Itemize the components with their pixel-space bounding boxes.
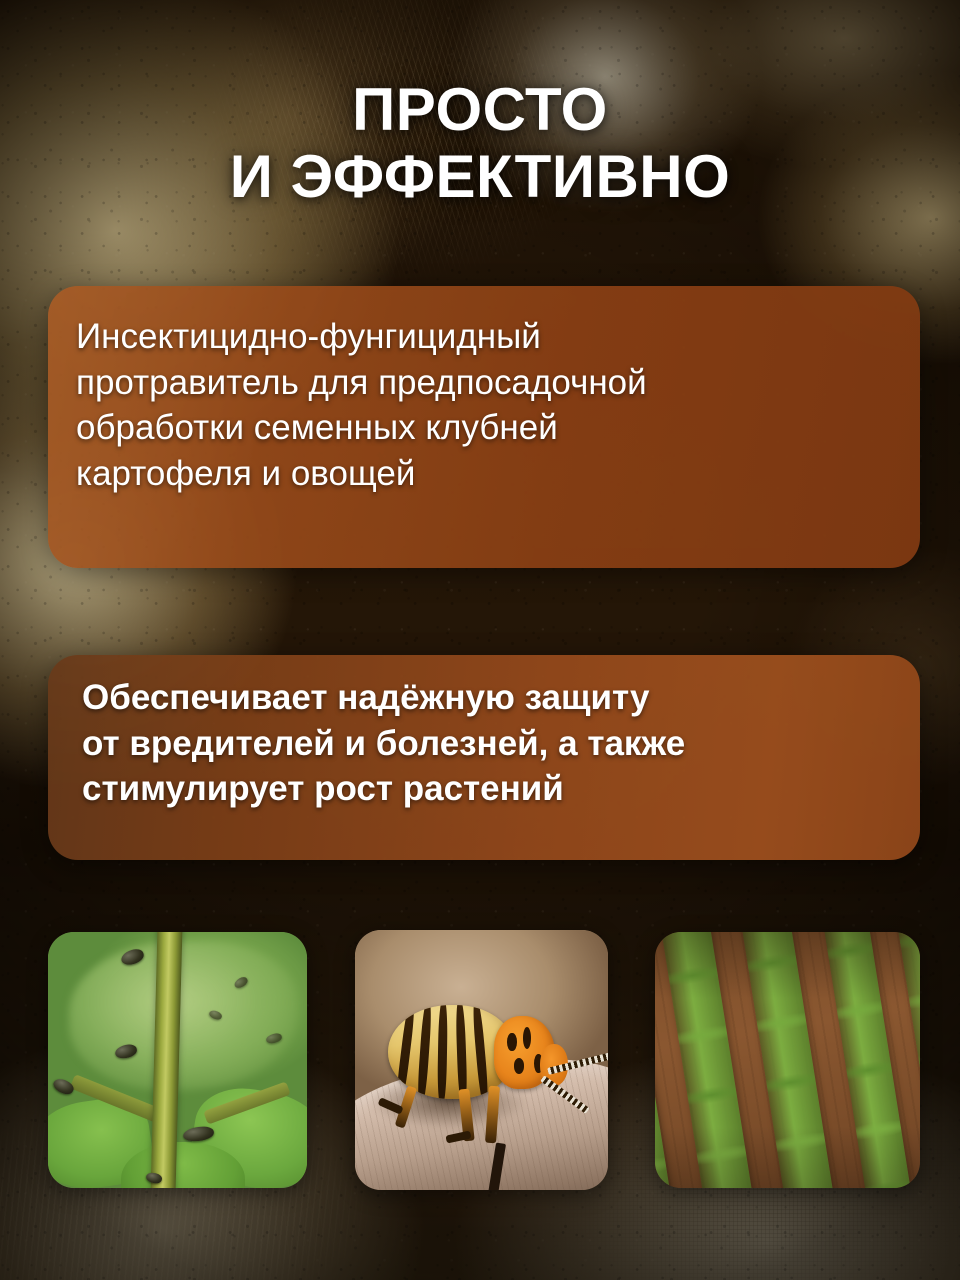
- product-description-text: Инсектицидно-фунгицидный протравитель дл…: [76, 314, 920, 496]
- description-line-4: картофеля и овощей: [76, 451, 920, 497]
- page-title-line-2: И ЭФФЕКТИВНО: [40, 143, 920, 210]
- beetle-spot: [507, 1033, 516, 1050]
- thumb-pest-damaged-plant: [48, 932, 307, 1188]
- beetle-stripe: [456, 1005, 468, 1099]
- page-title-line-1: ПРОСТО: [40, 76, 920, 143]
- pest-insect-icon: [265, 1033, 282, 1046]
- description-line-3: обработки семенных клубней: [76, 405, 920, 451]
- thumb-colorado-potato-beetle: [355, 930, 608, 1190]
- product-benefit-card: Обеспечивает надёжную защиту от вредител…: [48, 655, 920, 860]
- product-description-card: Инсектицидно-фунгицидный протравитель дл…: [48, 286, 920, 568]
- page-title: ПРОСТО И ЭФФЕКТИВНО: [0, 76, 960, 210]
- pest-insect-icon: [119, 947, 146, 968]
- depth-shading: [655, 932, 920, 1188]
- beetle-stripe: [472, 1005, 490, 1099]
- benefit-line-2: от вредителей и болезней, а также: [82, 721, 920, 767]
- description-line-2: протравитель для предпосадочной: [76, 360, 920, 406]
- product-benefit-text: Обеспечивает надёжную защиту от вредител…: [82, 675, 920, 812]
- pest-insect-icon: [51, 1077, 75, 1098]
- beetle-stripe: [438, 1005, 449, 1099]
- description-line-1: Инсектицидно-фунгицидный: [76, 314, 920, 360]
- pest-insect-icon: [208, 1009, 223, 1021]
- benefit-line-3: стимулирует рост растений: [82, 766, 920, 812]
- pest-insects-group: [48, 932, 307, 1188]
- beetle-spot: [523, 1027, 531, 1049]
- beetle-spot: [514, 1058, 525, 1074]
- pest-insect-icon: [114, 1042, 138, 1059]
- benefit-line-1: Обеспечивает надёжную защиту: [82, 675, 920, 721]
- infested-plant-photo: [48, 932, 307, 1188]
- field-rows-photo: [655, 932, 920, 1188]
- beetle-stripe: [416, 1005, 432, 1099]
- pest-insect-icon: [145, 1171, 163, 1185]
- pest-insect-icon: [233, 975, 250, 990]
- promo-banner: ПРОСТО И ЭФФЕКТИВНО Инсектицидно-фунгици…: [0, 0, 960, 1280]
- beetle-photo: [355, 930, 608, 1190]
- thumb-potato-field-rows: [655, 932, 920, 1188]
- pest-insect-icon: [182, 1125, 215, 1143]
